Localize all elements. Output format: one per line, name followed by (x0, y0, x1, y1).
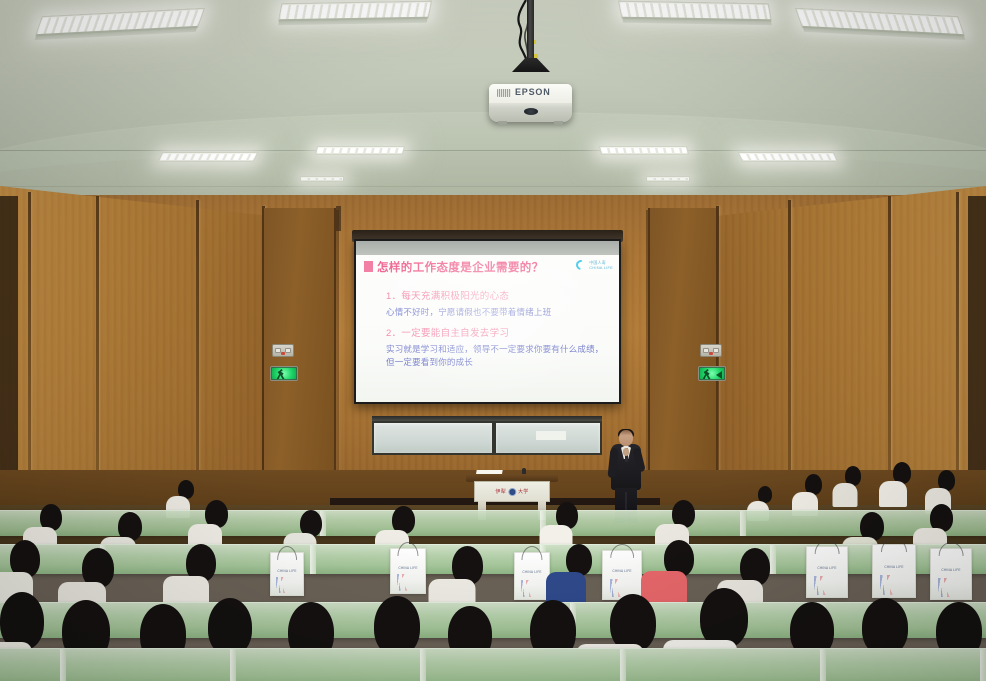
wall-panel-seam (28, 192, 31, 492)
tote-bag: CHINA LIFE (930, 548, 972, 600)
projector-brand-label: EPSON (515, 87, 551, 97)
slide-bullet-list: 1．每天充满积极阳光的心态 心情不好时，宁愿请假也不要带着情绪上班 2．一定要能… (386, 281, 607, 368)
whiteboard-left (372, 421, 494, 455)
tote-bag: CHINA LIFE (806, 546, 848, 598)
ceiling-light-fixture (599, 146, 689, 155)
slide-title-accent-bar (364, 261, 373, 272)
slide-point-head: 1．每天充满积极阳光的心态 (386, 288, 607, 302)
projector-mount-pole (527, 0, 534, 66)
exit-arrow-icon (716, 371, 722, 379)
wall-panel-seam (788, 200, 791, 490)
slide-brand-logo: 中国人寿 CHINA LIFE (576, 260, 613, 270)
wall-panel-seam (336, 210, 339, 480)
ceiling-light-fixture (315, 146, 405, 155)
seat-row-front[interactable] (0, 648, 986, 681)
tote-bag: CHINA LIFE (872, 544, 916, 598)
slide-logo-label: 中国人寿 CHINA LIFE (589, 260, 613, 270)
slide-content: 怎样的工作态度是企业需要的？ 中国人寿 CHINA LIFE 1．每天充满积极阳… (356, 255, 619, 402)
wall-shadow-edge (968, 196, 986, 496)
door-jamb (336, 206, 341, 231)
wall-panel-seam (196, 200, 199, 490)
whiteboard-right (494, 421, 602, 455)
whiteboard-note (536, 431, 566, 440)
wall-panel-seam (956, 192, 959, 492)
projector-foot (498, 121, 507, 126)
projector: EPSON (489, 84, 572, 122)
ceiling-seam (0, 186, 986, 187)
audience-area: CHINA LIFE CHINA LIFE CHINA LIFE CHINA L… (0, 452, 986, 681)
projector-vent-icon (497, 89, 511, 97)
emergency-light-right (700, 344, 722, 357)
ceiling-light-fixture (278, 1, 432, 22)
slide-title: 怎样的工作态度是企业需要的？ (377, 259, 544, 275)
exit-sign-left (270, 366, 298, 381)
wall-panel-seam (888, 196, 891, 496)
tote-bag: CHINA LIFE (514, 552, 550, 600)
projector-lens-icon (524, 108, 538, 115)
wall-shadow-edge (0, 196, 18, 496)
slide-point-head: 2．一定要能自主自发去学习 (386, 325, 607, 339)
exit-sign-right (698, 366, 726, 381)
seat-row-far[interactable] (0, 510, 986, 536)
crescent-logo-icon (574, 258, 588, 272)
slide-point-sub: 心情不好时，宁愿请假也不要带着情绪上班 (386, 306, 607, 318)
slide-point-sub: 实习就是学习和适应，领导不一定要求你要有什么成绩，但一定要看到你的成长 (386, 343, 607, 368)
ceiling-light-fixture (618, 1, 772, 22)
tote-bag: CHINA LIFE (270, 552, 304, 596)
tote-bag: CHINA LIFE (602, 550, 642, 600)
wall-panel-seam (96, 196, 99, 496)
ceiling-light-fixture (300, 176, 344, 182)
emergency-light-left (272, 344, 294, 357)
auditorium-photo: EPSON 怎样的工作态度是企业需要的？ (0, 0, 986, 681)
ceiling-seam (0, 150, 986, 151)
projector-foot (554, 121, 563, 126)
ceiling-light-fixture (158, 152, 259, 162)
tote-bag: CHINA LIFE (390, 548, 426, 594)
ceiling-light-fixture (738, 152, 839, 162)
ceiling-light-fixture (646, 176, 690, 182)
